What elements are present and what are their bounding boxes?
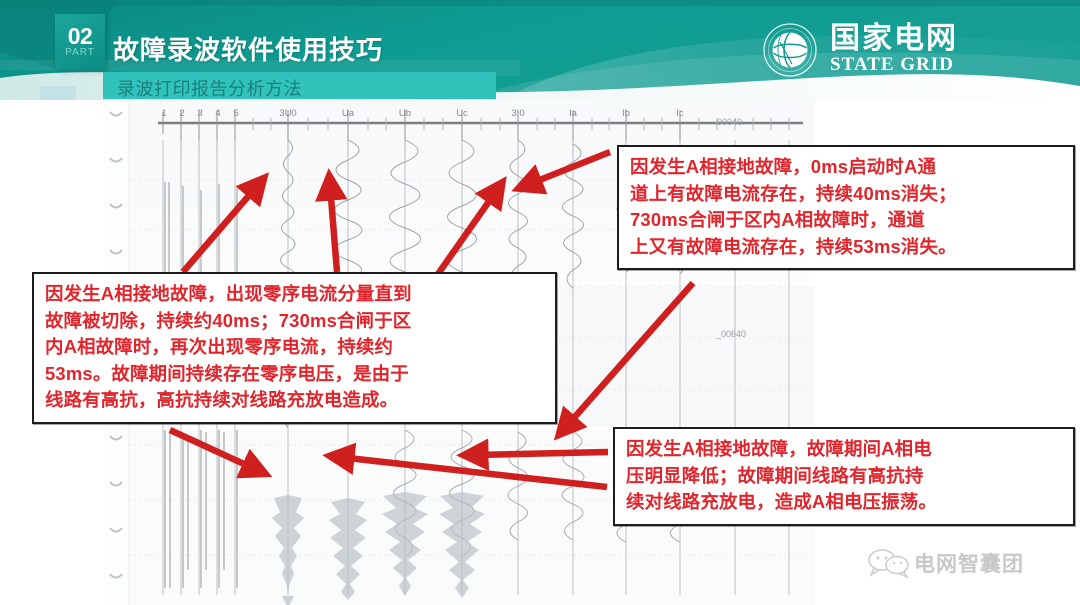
callout-line: 上又有故障电流存在，持续53ms消失。 [630, 234, 1064, 261]
callout-line: 因发生A相接地故障，故障期间A相电 [626, 436, 1064, 463]
callout-line: 53ms。故障期间持续存在零序电压，是由于 [45, 361, 546, 388]
phase-a-voltage-annotation-box: 因发生A相接地故障，故障期间A相电 压明显降低；故障期间线路有高抗持 续对线路充… [613, 427, 1075, 526]
slide-header: 02 PART 故障录波软件使用技巧 录波打印报告分析方法 国家电 [0, 0, 1080, 100]
watermark: 电网智囊团 [868, 548, 1024, 578]
brand-name-en: STATE GRID [830, 54, 958, 76]
callout-line: 压明显降低；故障期间线路有高抗持 [626, 463, 1064, 490]
page-subtitle: 录波打印报告分析方法 [117, 75, 302, 100]
callout-line: 道上有故障电流存在，持续40ms消失； [630, 181, 1064, 208]
callout-line: 续对线路充放电，造成A相电压振荡。 [626, 489, 1064, 516]
right-edge-label-0: -00040 [714, 117, 742, 127]
zero-sequence-annotation-box: 因发生A相接地故障，出现零序电流分量直到 故障被切除，持续约40ms；730ms… [32, 272, 557, 424]
callout-line: 线路有高抗，高抗持续对线路充放电造成。 [45, 387, 546, 414]
part-number: 02 [68, 25, 93, 47]
slide-canvas: -00040 _00640 123453U0UaUbUc3I0IaIbIc [0, 0, 1080, 605]
brand-logo: 国家电网 STATE GRID [762, 18, 958, 82]
page-title: 故障录波软件使用技巧 [113, 30, 383, 67]
callout-line: 因发生A相接地故障，0ms启动时A通 [630, 154, 1064, 181]
callout-line: 故障被切除，持续约40ms；730ms合闸于区 [45, 308, 546, 335]
part-badge: 02 PART [55, 14, 105, 69]
fault-current-annotation-box: 因发生A相接地故障，0ms启动时A通 道上有故障电流存在，持续40ms消失； 7… [617, 145, 1075, 270]
watermark-text: 电网智囊团 [914, 548, 1024, 578]
callout-line: 730ms合闸于区内A相故障时，通道 [630, 207, 1064, 234]
part-word: PART [65, 47, 95, 59]
callout-line: 内A相故障时，再次出现零序电流，持续约 [45, 334, 546, 361]
state-grid-seal-icon [762, 22, 818, 78]
callout-line: 因发生A相接地故障，出现零序电流分量直到 [45, 281, 546, 308]
wechat-icon [868, 548, 910, 578]
right-edge-label-1: _00640 [715, 329, 746, 339]
brand-name-cn: 国家电网 [830, 24, 958, 54]
brand-text: 国家电网 STATE GRID [830, 24, 958, 76]
